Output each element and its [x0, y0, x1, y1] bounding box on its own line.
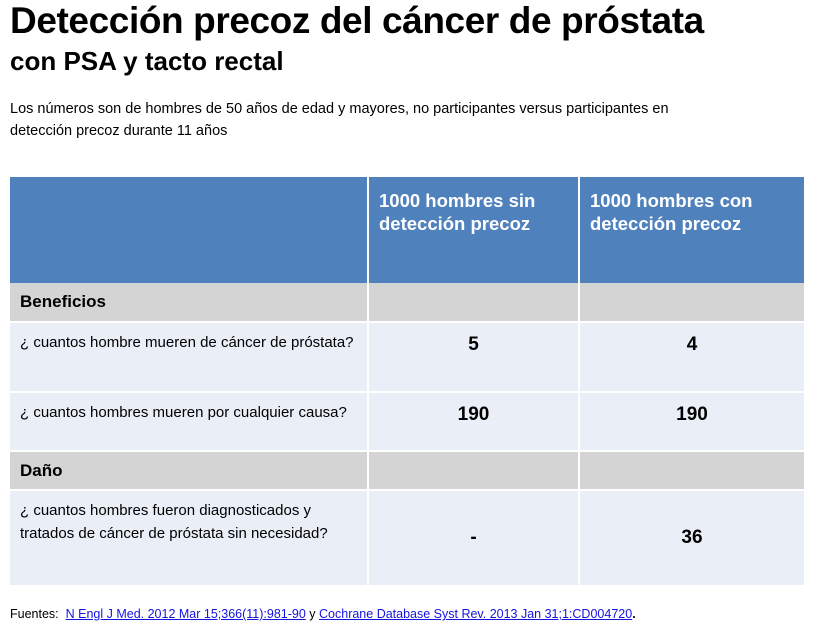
- sources-label: Fuentes:: [10, 607, 59, 621]
- row-label-prostate-cancer-deaths: ¿ cuantos hombre mueren de cáncer de pró…: [10, 322, 368, 392]
- table-body: Beneficios ¿ cuantos hombre mueren de cá…: [10, 283, 804, 585]
- column-header-label: [10, 177, 368, 283]
- table-header-row: 1000 hombres sin detección precoz 1000 h…: [10, 177, 804, 283]
- section-blank-without-benefits: [368, 283, 579, 322]
- table-row: ¿ cuantos hombres mueren por cualquier c…: [10, 392, 804, 451]
- table-row: ¿ cuantos hombre mueren de cáncer de pró…: [10, 322, 804, 392]
- row-label-overdiagnosis: ¿ cuantos hombres fueron diagnosticados …: [10, 490, 368, 585]
- source-link-nejm[interactable]: N Engl J Med. 2012 Mar 15;366(11):981-90: [66, 607, 306, 621]
- table-row: ¿ cuantos hombres fueron diagnosticados …: [10, 490, 804, 585]
- title-block: Detección precoz del cáncer de próstata …: [0, 0, 816, 143]
- section-blank-with-harms: [579, 451, 804, 490]
- lead-paragraph: Los números son de hombres de 50 años de…: [10, 76, 710, 143]
- page-title: Detección precoz del cáncer de próstata: [10, 0, 806, 39]
- column-header-without-screening: 1000 hombres sin detección precoz: [368, 177, 579, 283]
- table-head: 1000 hombres sin detección precoz 1000 h…: [10, 177, 804, 283]
- sources-footer: Fuentes: N Engl J Med. 2012 Mar 15;366(1…: [10, 607, 636, 621]
- source-link-cochrane[interactable]: Cochrane Database Syst Rev. 2013 Jan 31;…: [319, 607, 632, 621]
- facts-table-wrap: 1000 hombres sin detección precoz 1000 h…: [10, 177, 804, 585]
- section-blank-with-benefits: [579, 283, 804, 322]
- table-row-section-benefits: Beneficios: [10, 283, 804, 322]
- column-header-with-screening: 1000 hombres con detección precoz: [579, 177, 804, 283]
- row-value-without-prostate-cancer-deaths: 5: [368, 322, 579, 392]
- facts-table: 1000 hombres sin detección precoz 1000 h…: [10, 177, 804, 585]
- row-value-with-prostate-cancer-deaths: 4: [579, 322, 804, 392]
- page-subtitle: con PSA y tacto rectal: [10, 39, 806, 76]
- section-label-benefits: Beneficios: [10, 283, 368, 322]
- slide-root: Detección precoz del cáncer de próstata …: [0, 0, 816, 633]
- row-value-without-overdiagnosis: -: [368, 490, 579, 585]
- sources-period: .: [632, 607, 635, 621]
- row-value-without-all-cause-deaths: 190: [368, 392, 579, 451]
- row-value-with-all-cause-deaths: 190: [579, 392, 804, 451]
- section-label-harms: Daño: [10, 451, 368, 490]
- row-label-all-cause-deaths: ¿ cuantos hombres mueren por cualquier c…: [10, 392, 368, 451]
- section-blank-without-harms: [368, 451, 579, 490]
- row-value-with-overdiagnosis: 36: [579, 490, 804, 585]
- table-row-section-harms: Daño: [10, 451, 804, 490]
